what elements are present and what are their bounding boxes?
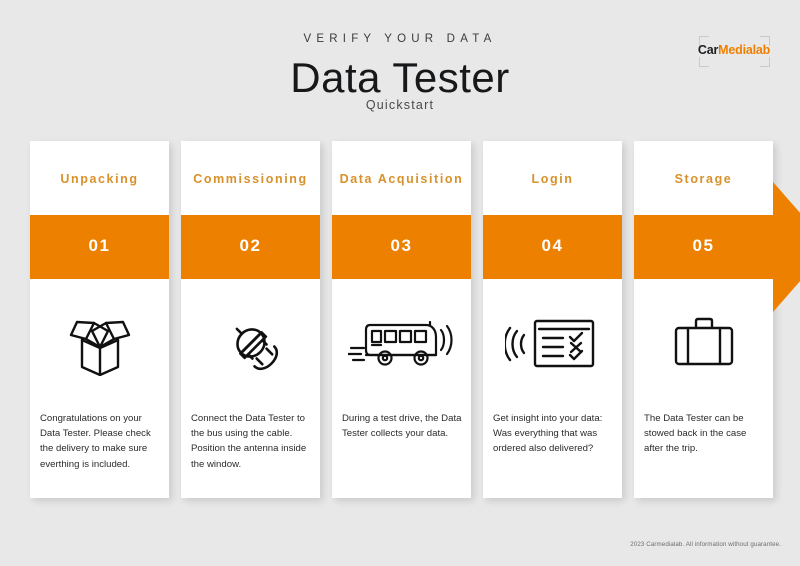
step-body: During a test drive, the Data Tester col… — [342, 411, 462, 441]
bus-icon — [332, 303, 471, 383]
step-card-unpacking: Unpacking 01 Congratulations on your Dat… — [30, 141, 169, 498]
step-title: Data Acquisition — [332, 172, 471, 186]
step-number: 01 — [30, 236, 169, 256]
logo-text: CarMedialab — [690, 43, 778, 57]
eyebrow-text: VERIFY YOUR DATA — [0, 33, 800, 45]
steps-container: Unpacking 01 Congratulations on your Dat… — [30, 141, 770, 499]
step-body: Connect the Data Tester to the bus using… — [191, 411, 311, 472]
step-title: Storage — [634, 172, 773, 186]
step-body: The Data Tester can be stowed back in th… — [644, 411, 764, 457]
step-number-band: 01 — [30, 215, 169, 279]
step-number-band: 05 — [634, 215, 773, 279]
step-number: 04 — [483, 236, 622, 256]
step-number: 05 — [634, 236, 773, 256]
step-number-band: 02 — [181, 215, 320, 279]
bracket-bottom-right-icon — [760, 57, 770, 67]
step-number-band: 04 — [483, 215, 622, 279]
bracket-bottom-left-icon — [699, 57, 709, 67]
arrow-head-icon — [773, 182, 800, 312]
logo-text-car: Car — [698, 43, 718, 57]
step-card-commissioning: Commissioning 02 — [181, 141, 320, 498]
plug-connector-icon — [181, 303, 320, 383]
step-card-login: Login 04 Get insigh — [483, 141, 622, 498]
suitcase-icon — [634, 303, 773, 383]
step-body: Get insight into your data: Was everythi… — [493, 411, 613, 457]
step-card-data-acquisition: Data Acquisition 03 — [332, 141, 471, 498]
step-title: Unpacking — [30, 172, 169, 186]
page-title: Data Tester — [0, 52, 800, 104]
step-body: Congratulations on your Data Tester. Ple… — [40, 411, 160, 472]
carmedialab-logo: CarMedialab — [690, 36, 778, 66]
step-number: 02 — [181, 236, 320, 256]
step-number-band: 03 — [332, 215, 471, 279]
page-subtitle: Quickstart — [0, 98, 800, 112]
open-box-icon — [30, 303, 169, 383]
checklist-screen-icon — [483, 303, 622, 383]
step-card-storage: Storage 05 The Data Tester can be stowed… — [634, 141, 773, 498]
footer-copyright: 2023 Carmedialab. All information withou… — [630, 541, 781, 548]
step-number: 03 — [332, 236, 471, 256]
infographic-page: VERIFY YOUR DATA Data Tester Quickstart … — [0, 0, 800, 566]
step-title: Login — [483, 172, 622, 186]
step-title: Commissioning — [181, 172, 320, 186]
logo-text-medialab: Medialab — [718, 43, 770, 57]
